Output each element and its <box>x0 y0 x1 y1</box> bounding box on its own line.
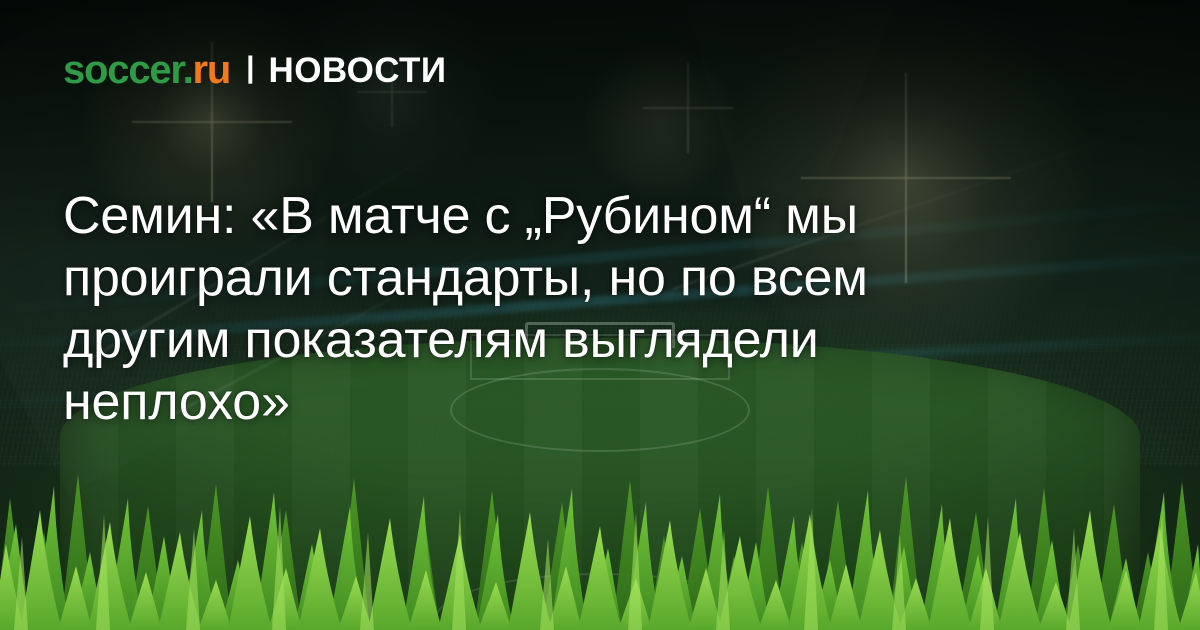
section-label-news[interactable]: НОВОСТИ <box>269 53 447 88</box>
brand-separator: | <box>246 53 254 83</box>
brand-bar[interactable]: soccer.ru | НОВОСТИ <box>63 48 446 92</box>
soccer-ru-logo[interactable]: soccer.ru <box>63 50 230 90</box>
article-headline: Семин: «В матче с „Рубином“ мы проиграли… <box>63 185 1043 433</box>
news-share-card: soccer.ru | НОВОСТИ Семин: «В матче с „Р… <box>0 0 1200 630</box>
card-content: soccer.ru | НОВОСТИ Семин: «В матче с „Р… <box>0 0 1200 630</box>
logo-text-green: soccer. <box>63 48 193 92</box>
logo-text-orange: ru <box>193 48 231 92</box>
